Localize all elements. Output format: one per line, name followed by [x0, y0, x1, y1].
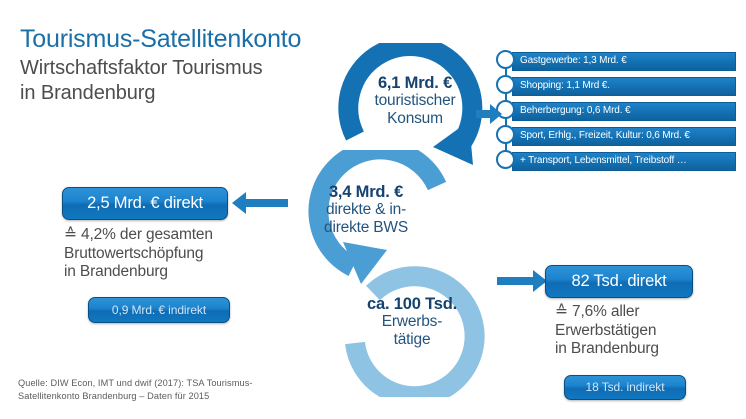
consumption-breakdown-list: Gastgewerbe: 1,3 Mrd. € Shopping: 1,1 Mr… — [496, 50, 742, 171]
bar-label: Shopping: 1,1 Mrd €. — [520, 78, 610, 93]
source-note: Quelle: DIW Econ, IMT und dwif (2017): T… — [18, 377, 318, 403]
list-item[interactable]: Beherbergung: 0,6 Mrd. € — [496, 100, 742, 121]
right-branch-description: ≙ 7,6% aller Erwerbstätigen in Brandenbu… — [555, 303, 740, 359]
bar-node-icon — [496, 125, 515, 144]
page-title: Tourismus-Satellitenkonto — [20, 26, 370, 52]
list-item[interactable]: + Transport, Lebensmittel, Treibstoff … — [496, 150, 742, 171]
arrow-left-icon — [232, 192, 288, 214]
right-indirect-value-box[interactable]: 18 Tsd. indirekt — [564, 375, 686, 400]
list-item[interactable]: Gastgewerbe: 1,3 Mrd. € — [496, 50, 742, 71]
bar-label: Gastgewerbe: 1,3 Mrd. € — [520, 53, 627, 68]
right-direct-value-box[interactable]: 82 Tsd. direkt — [545, 265, 693, 298]
right-desc-line3: in Brandenburg — [555, 340, 740, 359]
page-subtitle-line1: Wirtschaftsfaktor Tourismus — [20, 56, 370, 80]
source-line2: Satellitenkonto Brandenburg – Daten für … — [18, 390, 318, 403]
bar-node-icon — [496, 150, 515, 169]
left-desc-line1: ≙ 4,2% der gesamten — [64, 226, 284, 245]
bar-label: Sport, Erhlg., Freizeit, Kultur: 0,6 Mrd… — [520, 128, 690, 143]
cycle-ring-erwerbstaetige — [337, 257, 497, 397]
page-subtitle-line2: in Brandenburg — [20, 81, 370, 105]
left-desc-line2: Bruttowertschöpfung — [64, 245, 284, 264]
right-desc-line2: Erwerbstätigen — [555, 322, 740, 341]
arrow-right-icon — [497, 270, 547, 292]
left-direct-value-box[interactable]: 2,5 Mrd. € direkt — [62, 187, 228, 220]
page-subtitle: Wirtschaftsfaktor Tourismus in Brandenbu… — [20, 56, 370, 105]
list-item[interactable]: Sport, Erhlg., Freizeit, Kultur: 0,6 Mrd… — [496, 125, 742, 146]
bar-label: + Transport, Lebensmittel, Treibstoff … — [520, 153, 687, 168]
bar-node-icon — [496, 75, 515, 94]
left-branch-description: ≙ 4,2% der gesamten Bruttowertschöpfung … — [64, 226, 284, 282]
left-desc-line3: in Brandenburg — [64, 263, 284, 282]
arrow-right-icon — [476, 104, 502, 124]
right-desc-line1: ≙ 7,6% aller — [555, 303, 740, 322]
source-line1: Quelle: DIW Econ, IMT und dwif (2017): T… — [18, 377, 318, 390]
bar-node-icon — [496, 50, 515, 69]
list-item[interactable]: Shopping: 1,1 Mrd €. — [496, 75, 742, 96]
infographic-canvas: Tourismus-Satellitenkonto Wirtschaftsfak… — [0, 0, 746, 419]
left-indirect-value-box[interactable]: 0,9 Mrd. € indirekt — [88, 297, 230, 323]
title-block: Tourismus-Satellitenkonto Wirtschaftsfak… — [20, 26, 370, 105]
bar-label: Beherbergung: 0,6 Mrd. € — [520, 103, 630, 118]
